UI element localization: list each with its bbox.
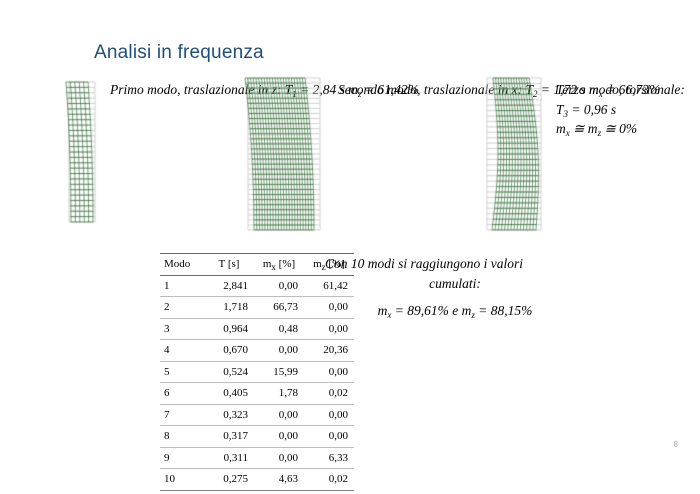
table-cell-mz: 0,00 (304, 426, 354, 448)
table-cell-mx: 15,99 (254, 361, 304, 383)
conclusion-text: Con 10 modi si raggiungono i valori cumu… (325, 254, 585, 321)
conclusion-line-1: Con 10 modi si raggiungono i valori (325, 254, 585, 274)
table-cell-mode: 8 (160, 426, 204, 448)
conclusion-line-2: cumulati: (325, 274, 585, 294)
table-cell-mz: 0,00 (304, 404, 354, 426)
table-cell-mx: 1,78 (254, 383, 304, 405)
table-cell-period: 2,841 (204, 275, 254, 297)
table-cell-mx: 0,00 (254, 447, 304, 469)
mode-3-period: T3 = 0,96 s (556, 102, 616, 117)
table-cell-period: 0,670 (204, 340, 254, 362)
page-number: 8 (674, 440, 678, 449)
table-cell-mz: 0,00 (304, 361, 354, 383)
table-cell-mx: 0,00 (254, 426, 304, 448)
table-cell-period: 0,964 (204, 318, 254, 340)
table-cell-mx: 4,63 (254, 469, 304, 491)
table-row: 60,4051,780,02 (160, 383, 354, 405)
table-cell-mx: 0,00 (254, 340, 304, 362)
mode-3-mass-sub-2: z (598, 128, 602, 138)
table-row: 70,3230,000,00 (160, 404, 354, 426)
table-cell-mx: 0,00 (254, 275, 304, 297)
table-cell-mx: 0,48 (254, 318, 304, 340)
mode-3-caption: Terzo modo, torsionale: T3 = 0,96 s mx ≅… (556, 80, 700, 139)
mode-2-line-1: Secondo modo, (338, 82, 420, 97)
mode-3-line-2: torsionale: (626, 82, 685, 97)
table-cell-mx: 66,73 (254, 297, 304, 319)
table-row: 100,2754,630,02 (160, 469, 354, 491)
table-cell-mz: 0,02 (304, 469, 354, 491)
table-cell-mode: 6 (160, 383, 204, 405)
table-cell-mz: 0,00 (304, 318, 354, 340)
table-header-period: T [s] (204, 254, 254, 276)
mode-2-model-image (236, 74, 332, 234)
table-cell-mode: 5 (160, 361, 204, 383)
table-row: 50,52415,990,00 (160, 361, 354, 383)
mode-3-mass: mx ≅ mz ≅ 0% (556, 121, 637, 136)
table-cell-mode: 7 (160, 404, 204, 426)
table-cell-period: 0,524 (204, 361, 254, 383)
table-cell-period: 0,323 (204, 404, 254, 426)
mode-1-model-image (58, 78, 106, 226)
mode-1-line-1: Primo modo, (110, 82, 181, 97)
table-cell-mode: 9 (160, 447, 204, 469)
table-cell-mode: 10 (160, 469, 204, 491)
table-row: 90,3110,006,33 (160, 447, 354, 469)
table-cell-mode: 3 (160, 318, 204, 340)
table-header-modo: Modo (160, 254, 204, 276)
table-cell-mode: 2 (160, 297, 204, 319)
table-cell-mz: 0,02 (304, 383, 354, 405)
slide: Analisi in frequenza Primo modo, traslaz… (0, 0, 700, 494)
mode-3-period-sub: 3 (564, 109, 569, 119)
table-row: 80,3170,000,00 (160, 426, 354, 448)
table-cell-mx: 0,00 (254, 404, 304, 426)
table-cell-period: 1,718 (204, 297, 254, 319)
table-cell-mz: 6,33 (304, 447, 354, 469)
table-cell-mz: 20,36 (304, 340, 354, 362)
conclusion-line-3: mx = 89,61% e mz = 88,15% (325, 301, 585, 321)
table-row: 40,6700,0020,36 (160, 340, 354, 362)
mode-3-mass-sub: x (566, 128, 570, 138)
mode-3-line-1: Terzo modo, (556, 82, 622, 97)
table-cell-mode: 4 (160, 340, 204, 362)
table-cell-period: 0,311 (204, 447, 254, 469)
mode-3-model-image (478, 74, 550, 234)
table-header-mx: mx [%] (254, 254, 304, 276)
page-title: Analisi in frequenza (94, 42, 264, 64)
table-cell-mode: 1 (160, 275, 204, 297)
table-cell-period: 0,275 (204, 469, 254, 491)
table-row: 30,9640,480,00 (160, 318, 354, 340)
table-cell-period: 0,317 (204, 426, 254, 448)
table-cell-period: 0,405 (204, 383, 254, 405)
